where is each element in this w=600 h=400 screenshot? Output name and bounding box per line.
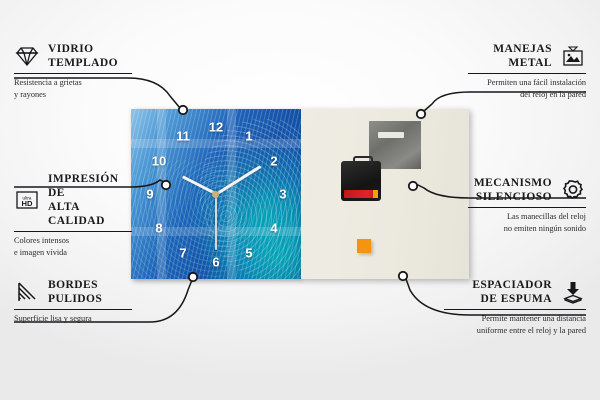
foam-spacer-square <box>357 239 371 253</box>
feature-sub-line1: Las manecillas del reloj <box>507 212 586 221</box>
clock-numeral-3: 3 <box>279 188 286 201</box>
diamond-icon <box>14 44 40 68</box>
mechanism-hook-tab <box>353 156 373 165</box>
grid-line-h1 <box>131 139 301 148</box>
feature-title-line1: MANEJAS <box>493 43 552 55</box>
clock-mechanism-box <box>341 161 381 201</box>
feature-mecanismo-silencioso: MECANISMO SILENCIOSO Las manecillas del … <box>468 176 586 234</box>
feature-title-line2: DE ESPUMA <box>481 293 552 305</box>
feature-title-line1: IMPRESIÓN DE <box>48 173 119 199</box>
grid-line-v2 <box>227 109 236 279</box>
clock-numeral-5: 5 <box>245 247 252 260</box>
hanger-slot <box>378 132 404 138</box>
feature-sub-line2: del reloj en la pared <box>520 90 586 99</box>
ultra-hd-icon: ultra HD <box>14 188 40 212</box>
feature-sub-line2: uniforme entre el reloj y la pared <box>477 326 586 335</box>
feature-title-line2: SILENCIOSO <box>476 191 552 203</box>
feature-title-line1: VIDRIO <box>48 43 94 55</box>
feature-sub-line2: no emiten ningún sonido <box>504 224 586 233</box>
clock-second-hand <box>215 194 216 250</box>
polished-edge-icon <box>14 280 40 304</box>
clock-numeral-4: 4 <box>270 222 277 235</box>
feature-sub-line1: Resistencia a grietas <box>14 78 82 87</box>
feature-sub-line1: Permiten una fácil instalación <box>487 78 586 87</box>
feature-vidrio-templado: VIDRIO TEMPLADO Resistencia a grietas y … <box>14 42 132 100</box>
grid-line-v1 <box>157 109 166 279</box>
feature-rule <box>14 73 132 74</box>
feature-title-line2: METAL <box>508 57 552 69</box>
product-photo: 12 1 2 3 4 5 6 7 8 9 10 11 <box>131 109 469 279</box>
clock-numeral-7: 7 <box>179 247 186 260</box>
clock-center-pin <box>212 191 219 198</box>
feature-manejas-metal: MANEJAS METAL Permiten una fácil instala… <box>468 42 586 100</box>
clock-numeral-11: 11 <box>176 130 190 143</box>
clock-numeral-8: 8 <box>155 222 162 235</box>
feature-title-line2: ALTA CALIDAD <box>48 201 105 227</box>
feature-title-line1: BORDES <box>48 279 98 291</box>
clock-numeral-9: 9 <box>146 188 153 201</box>
feature-title-line2: TEMPLADO <box>48 57 118 69</box>
feature-espaciador-espuma: ESPACIADOR DE ESPUMA Permite mantener un… <box>444 278 586 336</box>
wall-hanging-icon <box>560 44 586 68</box>
clock-numeral-12: 12 <box>209 121 223 134</box>
infographic-canvas: 12 1 2 3 4 5 6 7 8 9 10 11 <box>0 0 600 400</box>
feature-rule <box>444 309 586 310</box>
clock-back-panel <box>301 109 469 279</box>
feature-rule <box>468 207 586 208</box>
feature-sub-line2: y rayones <box>14 90 46 99</box>
feature-bordes-pulidos: BORDES PULIDOS Superficie lisa y segura <box>14 278 132 325</box>
feature-rule <box>14 231 132 232</box>
feature-title-line1: ESPACIADOR <box>472 279 552 291</box>
clock-numeral-1: 1 <box>245 130 252 143</box>
clock-front-face: 12 1 2 3 4 5 6 7 8 9 10 11 <box>131 109 301 279</box>
feature-sub-line1: Colores intensos <box>14 236 69 245</box>
feature-sub-line1: Permite mantener una distancia <box>482 314 586 323</box>
feature-rule <box>14 309 132 310</box>
feature-rule <box>468 73 586 74</box>
feature-title-line1: MECANISMO <box>474 177 552 189</box>
ultra-hd-icon-text-bottom: HD <box>22 199 33 208</box>
feature-sub-line1: Superficie lisa y segura <box>14 314 92 323</box>
battery-tip <box>373 190 378 198</box>
foam-spacer-icon <box>560 280 586 304</box>
clock-numeral-10: 10 <box>152 155 166 168</box>
clock-numeral-2: 2 <box>270 155 277 168</box>
feature-title-line2: PULIDOS <box>48 293 102 305</box>
feature-sub-line2: e imagen vívida <box>14 248 67 257</box>
clock-numeral-6: 6 <box>212 256 219 269</box>
gear-icon <box>560 178 586 202</box>
feature-impresion-alta-calidad: ultra HD IMPRESIÓN DE ALTA CALIDAD Color… <box>14 172 132 258</box>
